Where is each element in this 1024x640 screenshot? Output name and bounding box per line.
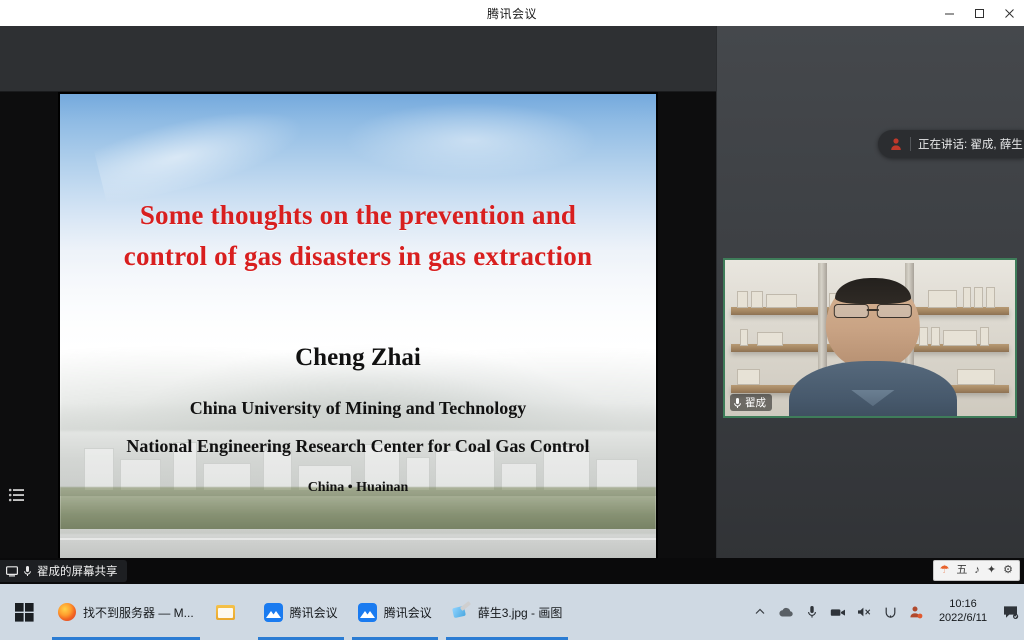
taskbar-item-paint[interactable]: 薛生3.jpg - 画图 bbox=[442, 584, 573, 640]
paint-icon bbox=[452, 604, 471, 621]
shared-screen-top-strip bbox=[0, 26, 716, 92]
maximize-button[interactable] bbox=[964, 0, 994, 26]
firefox-icon bbox=[58, 603, 76, 621]
participant-avatar-video bbox=[809, 280, 937, 416]
close-button[interactable] bbox=[994, 0, 1024, 26]
speaker-muted-icon[interactable] bbox=[856, 604, 872, 620]
window-title: 腾讯会议 bbox=[487, 5, 537, 22]
slide-author: Cheng Zhai bbox=[60, 344, 656, 372]
tencent-meeting-icon bbox=[264, 603, 283, 622]
app-root: 腾讯会议 bbox=[0, 0, 1024, 640]
screen-share-status-bar: 翟成的屏幕共享 ☂ 五 ♪ ✦ ⚙ bbox=[0, 558, 1024, 584]
speaking-indicator-badge: 正在讲话: 翟成, 薛生 bbox=[878, 130, 1024, 158]
tencent-meeting-icon bbox=[358, 603, 377, 622]
participant-name-text: 翟成 bbox=[745, 395, 766, 410]
person-speaking-icon bbox=[888, 136, 904, 152]
ime-floating-toolbar[interactable]: ☂ 五 ♪ ✦ ⚙ bbox=[933, 560, 1020, 581]
system-tray bbox=[752, 584, 932, 640]
taskbar-item-tencent-meeting-1[interactable]: 腾讯会议 bbox=[254, 584, 348, 640]
participant-video-feed bbox=[725, 260, 1015, 416]
user-account-icon[interactable] bbox=[908, 604, 924, 620]
presentation-slide: Some thoughts on the prevention and cont… bbox=[58, 92, 658, 564]
taskbar-item-tencent-meeting-2[interactable]: 腾讯会议 bbox=[348, 584, 442, 640]
notification-center-icon[interactable] bbox=[998, 584, 1024, 640]
window-title-bar: 腾讯会议 bbox=[0, 0, 1024, 27]
clock-time: 10:16 bbox=[949, 598, 977, 612]
ime-music-icon[interactable]: ♪ bbox=[974, 565, 980, 576]
screen-share-icon bbox=[6, 566, 18, 577]
screen-share-chip[interactable]: 翟成的屏幕共享 bbox=[0, 560, 127, 582]
taskbar-item-label: 腾讯会议 bbox=[384, 604, 432, 621]
ime-tools-icon[interactable]: ✦ bbox=[987, 565, 996, 576]
onedrive-cloud-icon[interactable] bbox=[778, 604, 794, 620]
camera-icon[interactable] bbox=[830, 604, 846, 620]
minimize-button[interactable] bbox=[934, 0, 964, 26]
taskbar-clock[interactable]: 10:16 2022/6/11 bbox=[932, 584, 998, 640]
microphone-icon bbox=[23, 565, 32, 577]
screen-share-label: 翟成的屏幕共享 bbox=[37, 563, 118, 579]
shared-screen-area[interactable]: Some thoughts on the prevention and cont… bbox=[0, 26, 716, 584]
ime-logo-icon[interactable]: ☂ bbox=[940, 565, 950, 576]
list-menu-icon[interactable] bbox=[6, 484, 28, 506]
slide-title: Some thoughts on the prevention and cont… bbox=[84, 195, 632, 279]
slide-organization-line-1: China University of Mining and Technolog… bbox=[60, 398, 656, 419]
participant-video-tile[interactable]: 翟成 bbox=[723, 258, 1017, 418]
participant-name-label: 翟成 bbox=[730, 394, 772, 411]
windows-taskbar: 找不到服务器 — M... 腾讯会议 腾讯会议 薛生3.jpg - 画图 bbox=[0, 584, 1024, 640]
file-explorer-icon bbox=[216, 605, 235, 620]
microphone-icon[interactable] bbox=[804, 604, 820, 620]
taskbar-item-file-explorer[interactable] bbox=[204, 584, 254, 640]
meeting-body: Some thoughts on the prevention and cont… bbox=[0, 26, 1024, 584]
chevron-up-icon[interactable] bbox=[752, 604, 768, 620]
clock-date: 2022/6/11 bbox=[939, 612, 987, 626]
speaking-indicator-text: 正在讲话: 翟成, 薛生 bbox=[918, 136, 1023, 152]
slide-title-line-2: control of gas disasters in gas extracti… bbox=[84, 236, 632, 278]
microphone-icon bbox=[733, 397, 742, 409]
slide-canvas: Some thoughts on the prevention and cont… bbox=[60, 94, 656, 562]
slide-title-line-1: Some thoughts on the prevention and bbox=[84, 195, 632, 237]
slide-location: China • Huainan bbox=[60, 480, 656, 496]
taskbar-item-firefox[interactable]: 找不到服务器 — M... bbox=[48, 584, 204, 640]
ime-mode-icon[interactable]: 五 bbox=[956, 565, 967, 576]
slide-text-layer: Some thoughts on the prevention and cont… bbox=[60, 94, 656, 562]
ime-input-icon[interactable] bbox=[882, 604, 898, 620]
taskbar-items: 找不到服务器 — M... 腾讯会议 腾讯会议 薛生3.jpg - 画图 bbox=[48, 584, 572, 640]
taskbar-item-label: 腾讯会议 bbox=[290, 604, 338, 621]
taskbar-item-label: 找不到服务器 — M... bbox=[83, 604, 194, 621]
slide-organization-line-2: National Engineering Research Center for… bbox=[60, 436, 656, 457]
window-controls bbox=[934, 0, 1024, 26]
start-button[interactable] bbox=[0, 584, 48, 640]
ime-settings-icon[interactable]: ⚙ bbox=[1003, 565, 1013, 576]
taskbar-item-label: 薛生3.jpg - 画图 bbox=[478, 604, 563, 621]
